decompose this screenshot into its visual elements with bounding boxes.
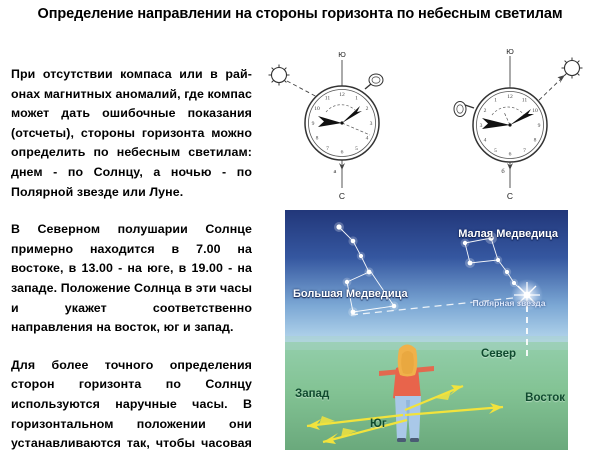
svg-text:3: 3 [480,123,483,129]
watch-crown-icon [454,102,474,117]
constellation-photo-drawing [285,210,568,450]
svg-text:12: 12 [339,92,345,98]
svg-text:10: 10 [314,106,320,112]
watch-diagram-group: 12 1 2 3 4 5 6 7 8 9 10 11 [256,42,600,202]
svg-text:2: 2 [366,106,369,112]
watch-figure-a-drawing: 12 1 2 3 4 5 6 7 8 9 10 11 [256,42,428,202]
body-paragraph-2: В Северном полушарии Солнце примерно нах… [11,220,252,338]
svg-text:9: 9 [538,123,541,129]
svg-text:7: 7 [523,148,526,154]
svg-text:4: 4 [366,136,369,142]
svg-text:5: 5 [355,146,358,152]
svg-text:12: 12 [507,94,513,100]
watch-figure-b: 12 11 10 9 8 7 6 5 4 3 2 1 Ю С [424,42,596,202]
south-label-b: Ю [506,47,514,56]
body-paragraph-3: Для более точного определения сторон гор… [11,356,252,450]
svg-text:3: 3 [370,121,373,127]
svg-text:8: 8 [316,136,319,142]
body-text-column: При отсутствии компаса или в рай-онах ма… [11,65,252,450]
page-title: Определение направлении на стороны гориз… [30,4,570,25]
constellation-photo: Малая Медведица Большая Медведица Полярн… [285,210,568,450]
svg-text:2: 2 [484,108,487,114]
figure-caption-b: б [501,168,505,175]
svg-text:5: 5 [494,148,497,154]
svg-text:7: 7 [326,146,329,152]
south-label-a: Ю [338,50,346,59]
svg-text:11: 11 [325,96,331,102]
svg-text:4: 4 [484,138,487,144]
north-label-a: С [339,191,345,201]
svg-text:10: 10 [532,108,538,114]
watch-crown-icon [365,74,383,89]
watch-figure-b-drawing: 12 11 10 9 8 7 6 5 4 3 2 1 Ю С [424,42,596,202]
svg-text:6: 6 [341,150,344,156]
sun-icon [269,65,290,86]
svg-text:1: 1 [494,98,497,104]
north-label-b: С [507,191,513,201]
watch-figure-a: 12 1 2 3 4 5 6 7 8 9 10 11 [256,42,428,202]
svg-text:6: 6 [509,152,512,158]
svg-text:11: 11 [522,98,528,104]
body-paragraph-1: При отсутствии компаса или в рай-онах ма… [11,65,252,202]
svg-text:8: 8 [534,138,537,144]
svg-text:1: 1 [355,96,358,102]
svg-text:9: 9 [312,121,315,127]
figure-caption-a: а [334,168,337,175]
